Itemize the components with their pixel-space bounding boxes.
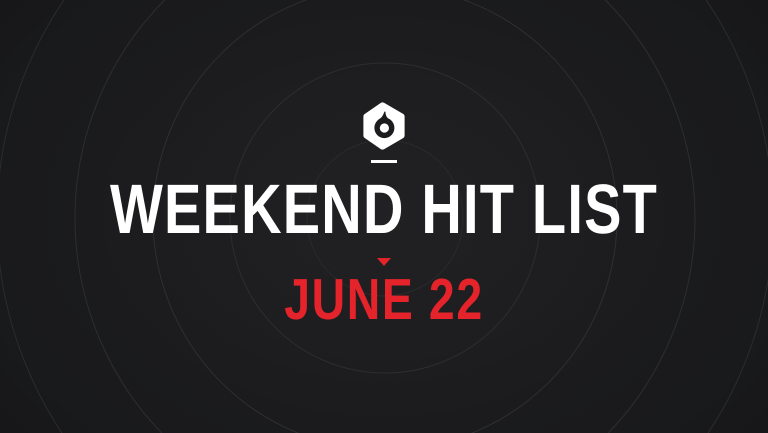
poster-content: WEEKEND HIT LIST JUNE 22 bbox=[0, 0, 768, 433]
divider-dash bbox=[371, 160, 397, 163]
date-label: JUNE 22 bbox=[77, 272, 691, 328]
promo-poster: WEEKEND HIT LIST JUNE 22 bbox=[0, 0, 768, 433]
beatport-hex-b-logo-icon bbox=[362, 102, 406, 150]
page-title: WEEKEND HIT LIST bbox=[77, 176, 691, 242]
red-down-triangle-icon bbox=[377, 258, 391, 266]
